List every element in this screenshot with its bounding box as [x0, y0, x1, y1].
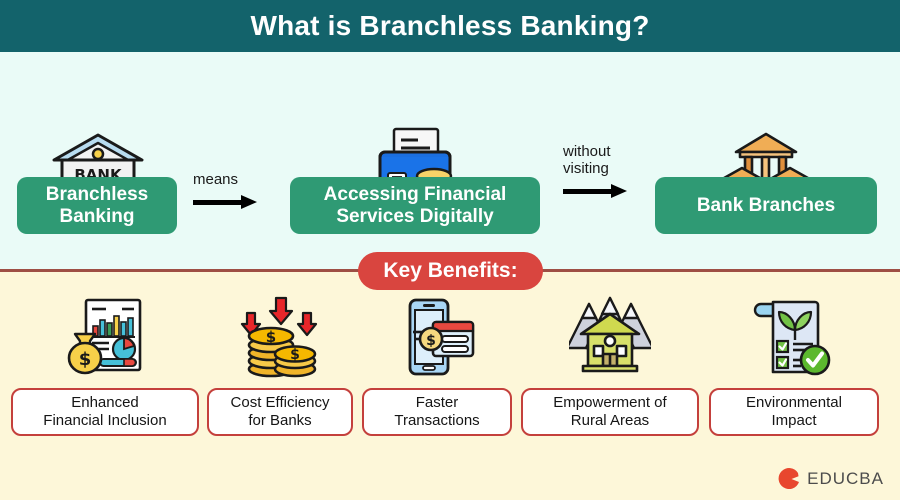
- svg-text:$: $: [290, 347, 300, 363]
- benefit-label: Environmental Impact: [746, 394, 842, 429]
- arrow-right-icon: [563, 184, 629, 198]
- benefit-item-cost-efficiency-for-banks[interactable]: $ $ Cost Efficiency for Banks: [207, 296, 353, 436]
- benefit-label: Empowerment of Rural Areas: [553, 394, 666, 429]
- connector-label: without visiting: [563, 144, 611, 178]
- eco-checklist-icon: [753, 296, 835, 378]
- benefit-item-faster-transactions[interactable]: $ Faster Transactions: [362, 296, 512, 436]
- svg-text:$: $: [426, 333, 436, 349]
- flow-step-bank-branches[interactable]: Bank Branches: [655, 177, 877, 234]
- benefit-label-box: Enhanced Financial Inclusion: [11, 388, 199, 436]
- flow-step-accessing-financial-services[interactable]: Accessing Financial Services Digitally: [290, 177, 540, 234]
- infographic-root: What is Branchless Banking? BANK: [0, 0, 900, 500]
- educba-logo[interactable]: EDUCBA: [776, 466, 884, 492]
- arrow-right-icon: [193, 195, 259, 209]
- flow-row: BANK Branchless Banking means: [0, 52, 900, 270]
- educba-logo-text: EDUCBA: [807, 469, 884, 489]
- connector-label: means: [193, 172, 238, 189]
- key-benefits-heading: Key Benefits:: [383, 259, 517, 283]
- flow-step-label: Branchless Banking: [46, 184, 148, 227]
- rural-house-mountains-icon: [569, 296, 651, 378]
- svg-text:$: $: [266, 328, 276, 346]
- benefit-item-empowerment-of-rural-areas[interactable]: Empowerment of Rural Areas: [521, 296, 699, 436]
- benefit-label-box: Faster Transactions: [362, 388, 512, 436]
- benefit-label: Cost Efficiency for Banks: [231, 394, 330, 429]
- svg-text:$: $: [79, 349, 92, 370]
- benefits-row: $ Enhanced Financial Inclusion: [0, 272, 900, 500]
- educba-e-icon: [776, 466, 802, 492]
- financial-report-icon: $: [64, 296, 146, 378]
- connector-without-visiting: without visiting: [563, 144, 645, 198]
- benefit-label: Faster Transactions: [394, 394, 479, 429]
- benefit-label-box: Cost Efficiency for Banks: [207, 388, 353, 436]
- flow-step-label: Bank Branches: [697, 195, 835, 216]
- benefits-section: $ Enhanced Financial Inclusion: [0, 272, 900, 500]
- benefit-label-box: Empowerment of Rural Areas: [521, 388, 699, 436]
- key-benefits-heading-pill: Key Benefits:: [358, 252, 543, 290]
- benefit-item-environmental-impact[interactable]: Environmental Impact: [709, 296, 879, 436]
- benefit-item-enhanced-financial-inclusion[interactable]: $ Enhanced Financial Inclusion: [11, 296, 199, 436]
- flow-step-branchless-banking[interactable]: Branchless Banking: [17, 177, 177, 234]
- benefit-label: Enhanced Financial Inclusion: [43, 394, 166, 429]
- mobile-payment-icon: $: [396, 296, 478, 378]
- flow-step-label: Accessing Financial Services Digitally: [324, 184, 507, 227]
- flow-section: BANK Branchless Banking means: [0, 52, 900, 270]
- header-bar: What is Branchless Banking?: [0, 0, 900, 52]
- connector-means: means: [193, 172, 275, 209]
- benefit-label-box: Environmental Impact: [709, 388, 879, 436]
- page-title: What is Branchless Banking?: [250, 10, 649, 42]
- coins-down-arrows-icon: $ $: [239, 296, 321, 378]
